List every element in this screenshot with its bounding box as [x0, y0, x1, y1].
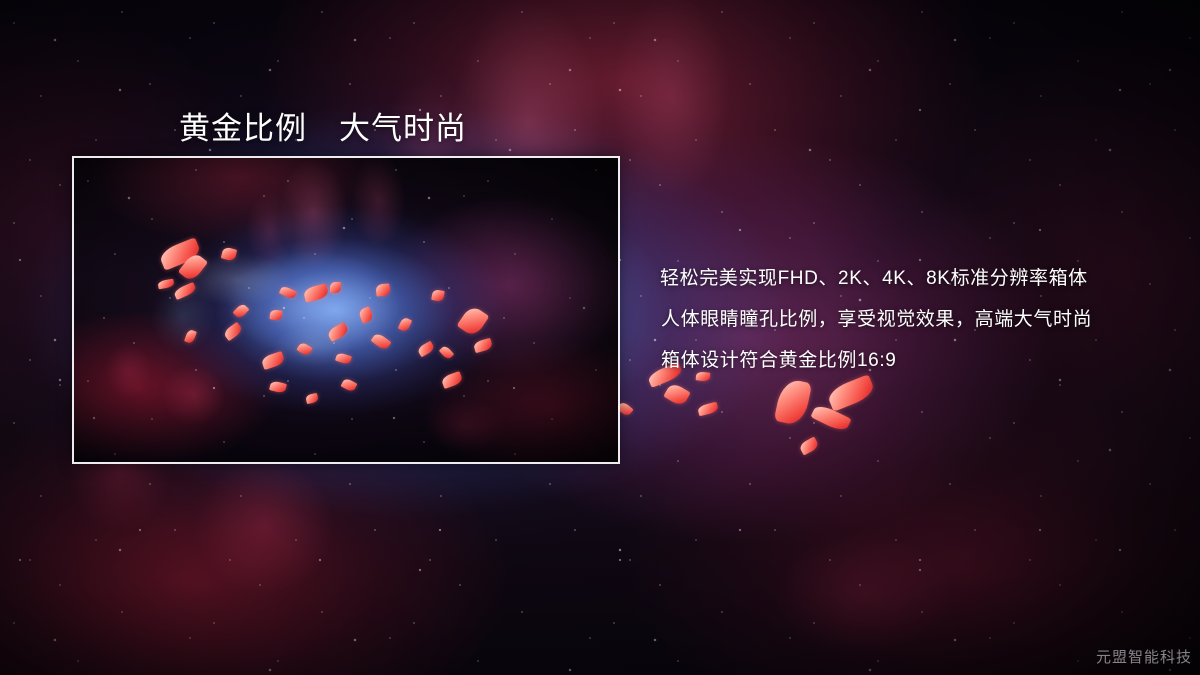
image-frame-content [74, 158, 618, 462]
body-line-3: 箱体设计符合黄金比例16:9 [660, 340, 1160, 381]
body-copy: 轻松完美实现FHD、2K、4K、8K标准分辨率箱体 人体眼睛瞳孔比例，享受视觉效… [660, 258, 1160, 381]
frame-vignette-overlay [74, 158, 618, 462]
body-line-1: 轻松完美实现FHD、2K、4K、8K标准分辨率箱体 [660, 258, 1160, 299]
watermark: 元盟智能科技 [1096, 646, 1192, 667]
image-frame [72, 156, 620, 464]
body-line-2: 人体眼睛瞳孔比例，享受视觉效果，高端大气时尚 [660, 299, 1160, 340]
page-title: 黄金比例 大气时尚 [179, 103, 467, 148]
presentation-slide: 黄金比例 大气时尚 轻松完美实现FHD、2K、4K、8K标准分辨率箱体 人体眼睛… [0, 0, 1200, 675]
